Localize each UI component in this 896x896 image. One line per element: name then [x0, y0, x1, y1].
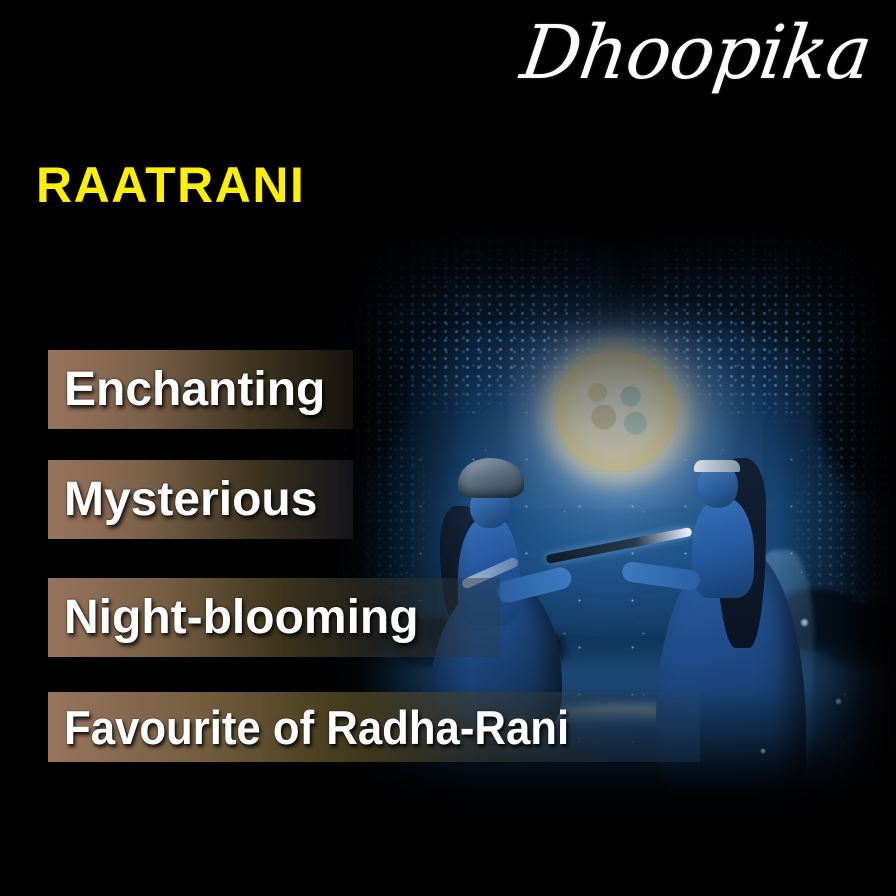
feature-bar: Favourite of Radha-Rani: [48, 692, 700, 762]
radha-headband: [694, 460, 740, 472]
feature-label: Mysterious: [64, 476, 317, 524]
feature-label: Favourite of Radha-Rani: [64, 704, 569, 751]
feature-label: Night-blooming: [64, 594, 419, 642]
poster-canvas: Dhoopika RAATRANI Enchanting Mysterious …: [0, 0, 896, 896]
feature-label: Enchanting: [64, 366, 325, 414]
feature-bar: Mysterious: [48, 460, 353, 539]
radha-torso: [692, 498, 754, 598]
feature-bar: Enchanting: [48, 350, 353, 429]
feature-bar: Night-blooming: [48, 578, 500, 657]
page-title: RAATRANI: [36, 160, 305, 210]
brand-logo: Dhoopika: [517, 16, 875, 90]
